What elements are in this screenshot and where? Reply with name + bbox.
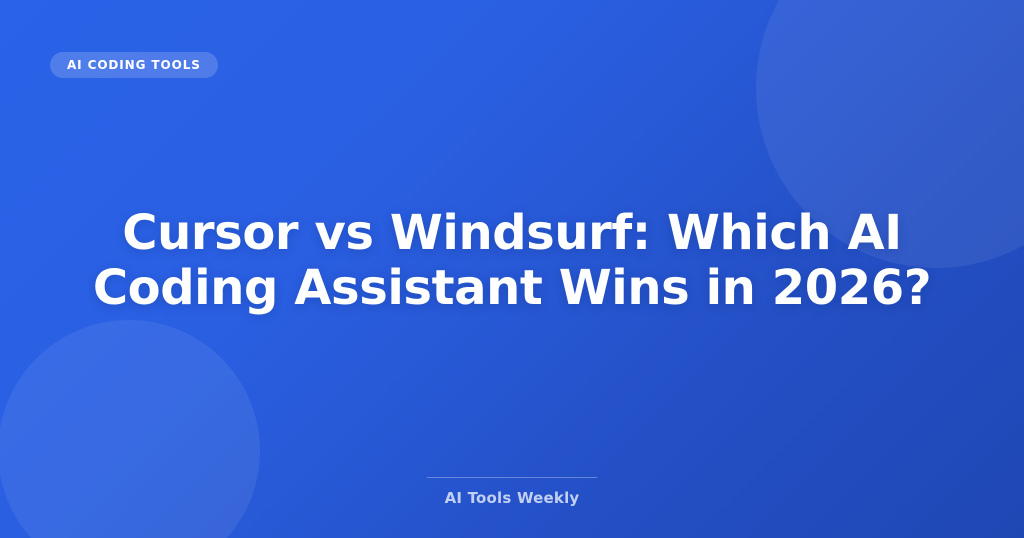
footer: AI Tools Weekly	[0, 477, 1024, 506]
footer-brand-label: AI Tools Weekly	[445, 491, 580, 506]
page-title-line-1: Cursor vs Windsurf: Which AI	[93, 206, 931, 261]
hero-content: Cursor vs Windsurf: Which AI Coding Assi…	[0, 0, 1024, 538]
hero-card: AI CODING TOOLS Cursor vs Windsurf: Whic…	[0, 0, 1024, 538]
page-title: Cursor vs Windsurf: Which AI Coding Assi…	[23, 206, 1001, 316]
footer-divider	[427, 477, 597, 478]
page-title-line-2: Coding Assistant Wins in 2026?	[93, 261, 931, 316]
